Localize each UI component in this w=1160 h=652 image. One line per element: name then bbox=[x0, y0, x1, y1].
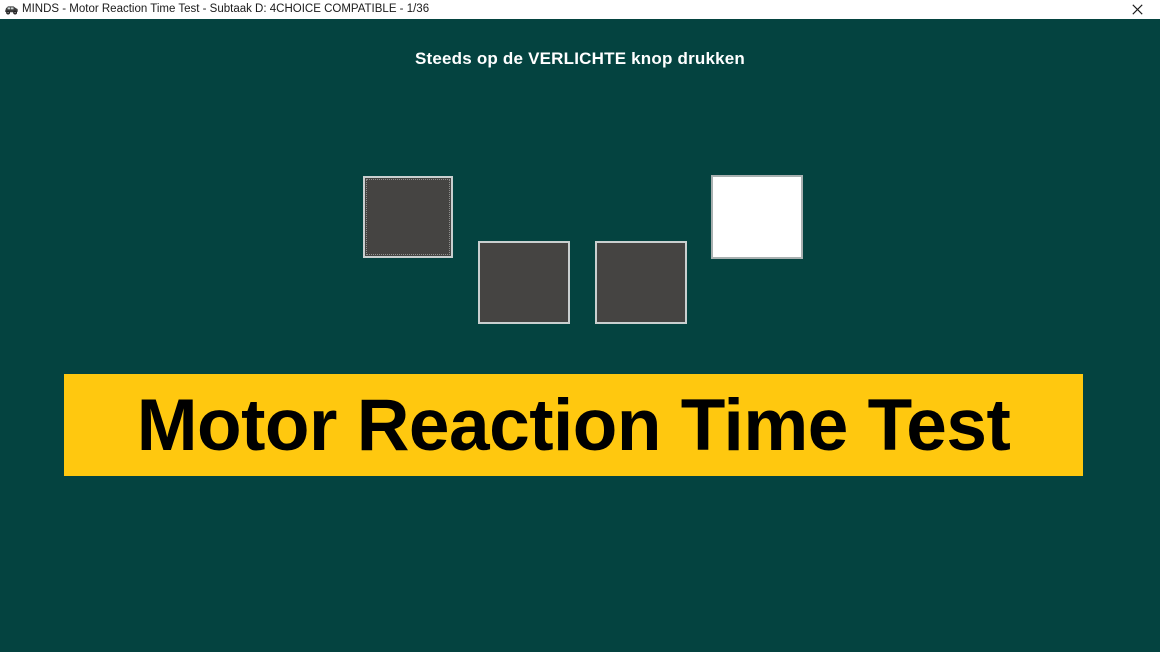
window-title: MINDS - Motor Reaction Time Test - Subta… bbox=[22, 2, 429, 17]
title-bar: MINDS - Motor Reaction Time Test - Subta… bbox=[0, 0, 1160, 19]
stimulus-button-2[interactable] bbox=[478, 241, 570, 324]
test-canvas: Steeds op de VERLICHTE knop drukken Moto… bbox=[0, 19, 1160, 652]
car-icon bbox=[4, 3, 19, 16]
test-name-banner: Motor Reaction Time Test bbox=[64, 374, 1083, 476]
close-icon[interactable] bbox=[1114, 0, 1160, 19]
application-window: MINDS - Motor Reaction Time Test - Subta… bbox=[0, 0, 1160, 652]
test-name-label: Motor Reaction Time Test bbox=[137, 389, 1011, 462]
instruction-text: Steeds op de VERLICHTE knop drukken bbox=[0, 49, 1160, 69]
stimulus-button-3[interactable] bbox=[595, 241, 687, 324]
stimulus-button-4[interactable] bbox=[711, 175, 803, 259]
stimulus-button-1[interactable] bbox=[363, 176, 453, 258]
